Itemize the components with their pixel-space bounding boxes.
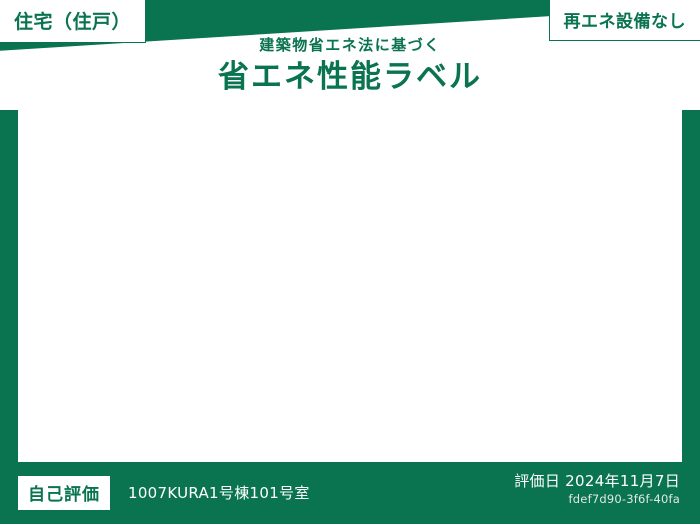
page-title: 省エネ性能ラベル <box>0 62 700 93</box>
category-tag: 住宅（住戸） <box>0 0 146 43</box>
self-evaluation-badge: 自己評価 <box>18 476 110 510</box>
footer-bar: 自己評価 1007KURA1号棟101号室 評価日 2024年11月7日 fde… <box>0 462 700 524</box>
title-block: 建築物省エネ法に基づく 省エネ性能ラベル <box>0 38 700 93</box>
title-subtitle: 建築物省エネ法に基づく <box>0 38 700 53</box>
energy-performance-label: 住宅（住戸） 再エネ設備なし 建築物省エネ法に基づく 省エネ性能ラベル サンプル… <box>0 0 700 524</box>
renewable-equipment-tag: 再エネ設備なし <box>549 0 700 41</box>
building-name: 1007KURA1号棟101号室 <box>128 482 310 503</box>
evaluation-date: 評価日 2024年11月7日 <box>514 470 680 491</box>
label-card <box>18 94 682 462</box>
evaluation-id: fdef7d90-3f6f-40fa <box>569 492 680 506</box>
